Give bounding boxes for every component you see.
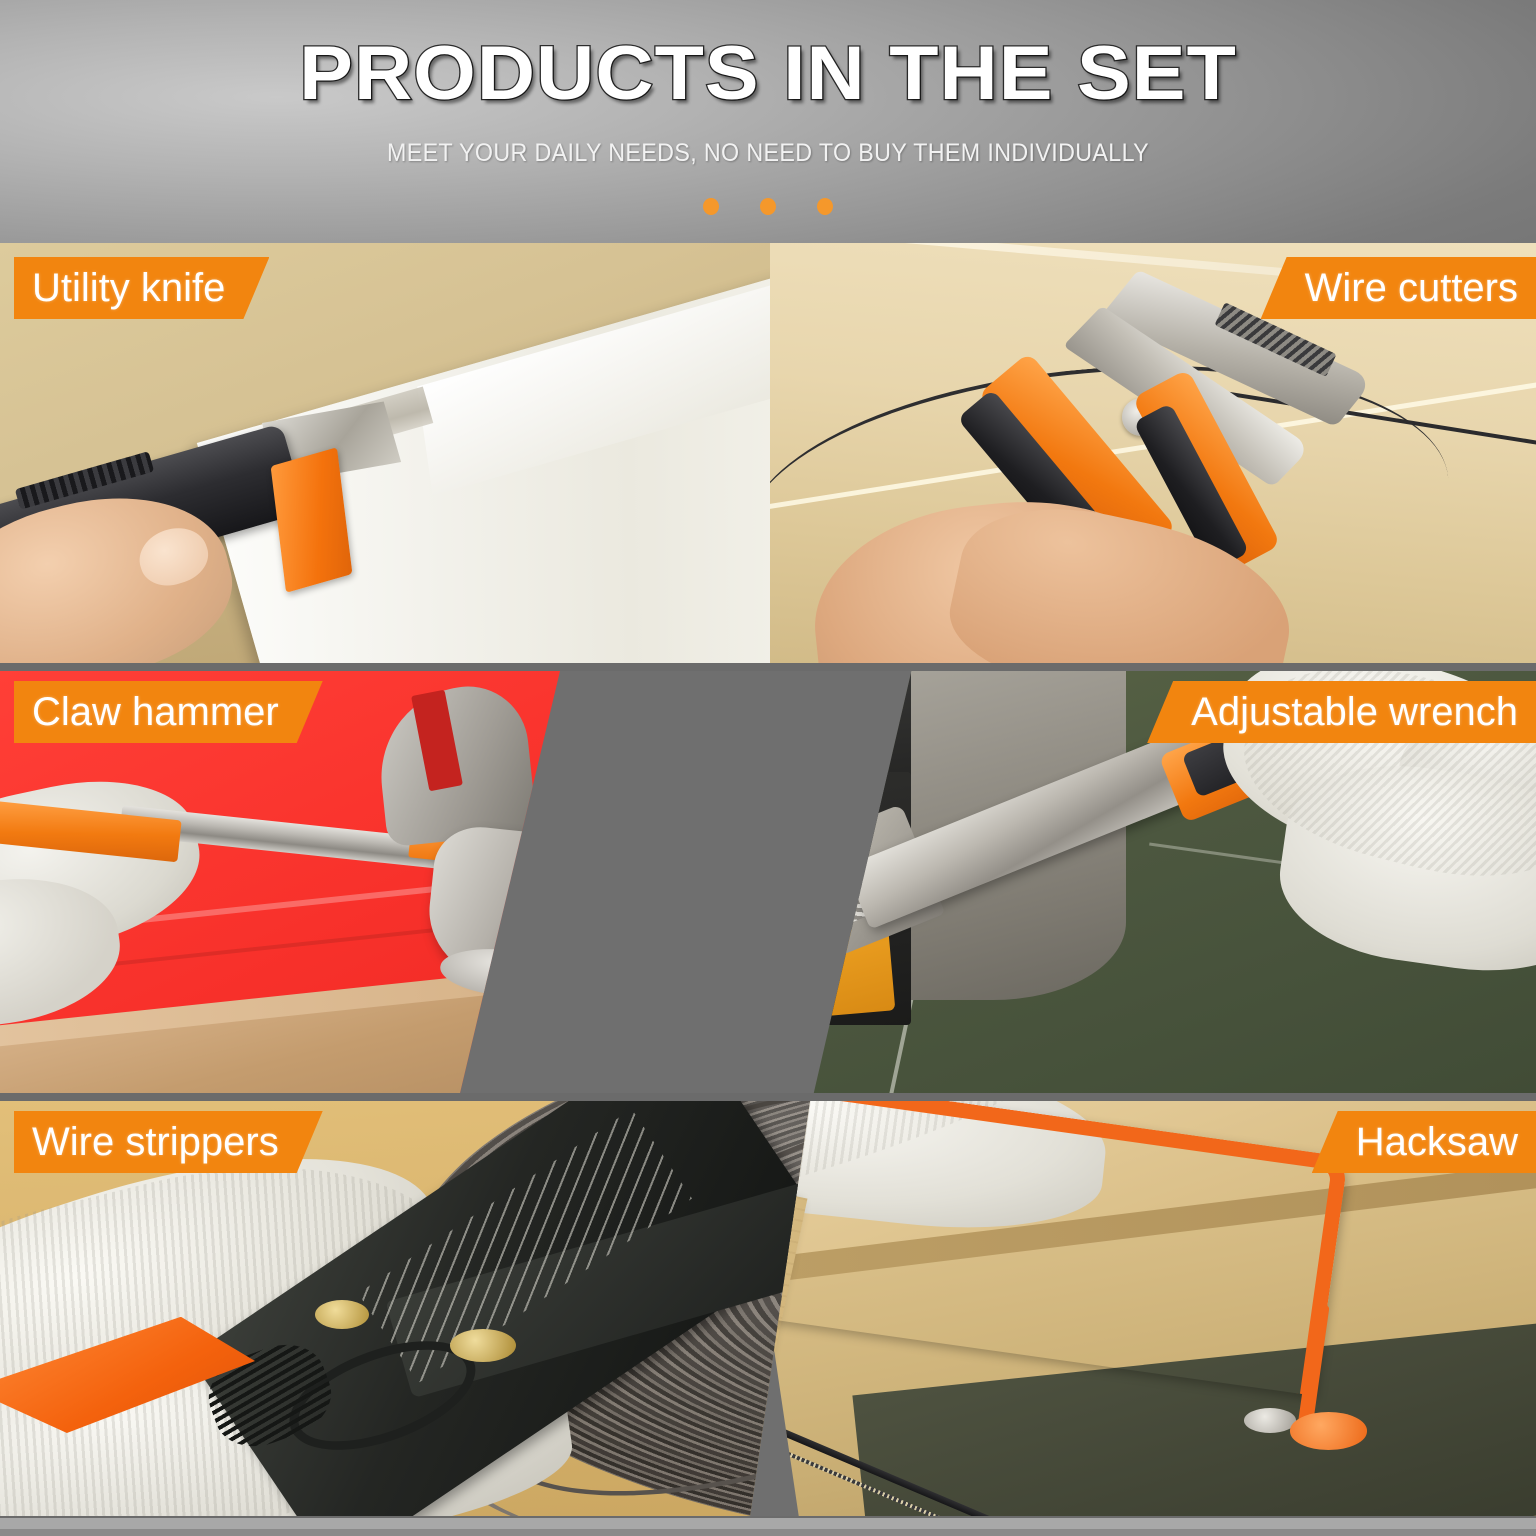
page-subtitle: MEET YOUR DAILY NEEDS, NO NEED TO BUY TH… [54, 138, 1482, 168]
product-label-utility-knife: Utility knife [14, 257, 269, 319]
page-title: PRODUCTS IN THE SET [0, 36, 1536, 112]
product-panel-wire-cutters[interactable]: Wire cutters [770, 243, 1536, 663]
product-label-hacksaw: Hacksaw [1312, 1111, 1536, 1173]
dot-indicator-3 [817, 198, 833, 215]
product-label-adjustable-wrench: Adjustable wrench [1147, 681, 1536, 743]
footer-bar [0, 1516, 1536, 1529]
dot-indicator-1 [703, 198, 719, 215]
row-divider-1 [0, 663, 1536, 671]
product-grid: Utility knife Wire cutters [0, 243, 1536, 1521]
dot-separator [0, 198, 1536, 215]
header-banner: PRODUCTS IN THE SET MEET YOUR DAILY NEED… [0, 0, 1536, 243]
product-label-wire-strippers: Wire strippers [14, 1111, 323, 1173]
product-label-wire-cutters: Wire cutters [1261, 257, 1536, 319]
product-row-3: Wire strippers Hacksaw [0, 1101, 1536, 1516]
dot-indicator-2 [760, 198, 776, 215]
product-row-2: Claw hammer Adjustable wrench [0, 671, 1536, 1093]
product-label-claw-hammer: Claw hammer [14, 681, 323, 743]
product-row-1: Utility knife Wire cutters [0, 243, 1536, 663]
row-divider-2 [0, 1093, 1536, 1101]
product-panel-utility-knife[interactable]: Utility knife [0, 243, 770, 663]
